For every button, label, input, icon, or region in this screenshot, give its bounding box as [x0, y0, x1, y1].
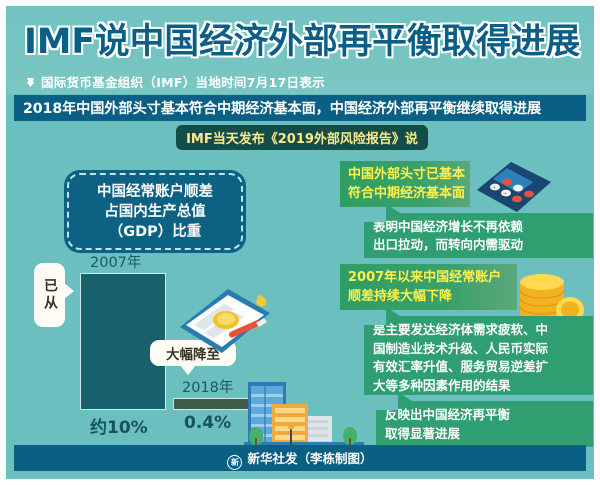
svg-text:÷: ÷ [503, 191, 507, 197]
infographic-poster: IMF说中国经济外部再平衡取得进展 国际货币基金组织（IMF）当地时间7月17日… [6, 6, 594, 479]
point-1-line-2: 符合中期经济基本面 [348, 184, 470, 203]
bar-value-2007: 约10% [90, 413, 148, 438]
bar-label-2007: 2007年 [90, 251, 141, 272]
down-arrow-icon [25, 77, 36, 88]
annotation-from-text: 已从 [41, 278, 58, 312]
annotation-from-bubble: 已从 [34, 263, 65, 327]
callout-line-1: 中国经常账户顺差 [97, 182, 213, 202]
headline-bar: 2018年中国外部头寸基本符合中期经济基本面，中国经济外部再平衡继续取得进展 [14, 95, 586, 121]
headline-text: 2018年中国外部头寸基本符合中期经济基本面，中国经济外部再平衡继续取得进展 [14, 98, 541, 118]
point-1-line-1: 中国外部头寸已基本 [348, 165, 470, 184]
bar-2018 [173, 398, 255, 410]
box-notch [364, 316, 386, 325]
footer-credit-bar: 新新华社发（李栋制图） [14, 445, 586, 471]
point-2-detail-box: 是主要发达经济体需求疲软、中 国制造业技术升级、人民币实际 有效汇率升值、服务贸… [364, 316, 593, 395]
source-text: 国际货币基金组织（IMF）当地时间7月17日表示 [41, 75, 325, 90]
point-1-band: 中国外部头寸已基本 符合中期经济基本面 [340, 161, 470, 207]
page-title: IMF说中国经济外部再平衡取得进展 [24, 20, 578, 64]
point-2-detail-line-1: 是主要发达经济体需求疲软、中 [373, 321, 593, 340]
point-2-line-1: 2007年以来中国经常账户 [348, 268, 517, 287]
footer-credit: 新新华社发（李栋制图） [227, 448, 372, 469]
metric-callout: 中国经常账户顺差 占国内生产总值 （GDP）比重 [64, 170, 246, 253]
xinhua-logo-icon: 新 [227, 455, 242, 470]
point-2-detail-line-3: 有效汇率升值、服务贸易逆差扩 [373, 358, 593, 377]
point-1-detail-line-1: 表明中国经济增长不再依赖 [373, 218, 593, 236]
point-3-detail-box: 反映出中国经济再平衡 取得显著进展 [376, 401, 593, 447]
footer-credit-text: 新华社发（李栋制图） [247, 451, 372, 466]
header-area: IMF说中国经济外部再平衡取得进展 国际货币基金组织（IMF）当地时间7月17日… [6, 6, 594, 94]
point-2-detail-line-2: 国制造业技术升级、人民币实际 [373, 340, 593, 359]
report-pill-text: IMF当天发布《2019外部风险报告》说 [186, 128, 418, 147]
box-notch [376, 401, 398, 410]
callout-line-2: 占国内生产总值 [104, 202, 206, 222]
point-1-detail-box: 表明中国经济增长不再依赖 出口拉动，而转向内需驱动 [364, 213, 593, 258]
callout-line-3: （GDP）比重 [109, 222, 202, 242]
clipboard-coin-icon [166, 281, 276, 365]
point-3-detail-line-2: 取得显著进展 [385, 425, 593, 444]
bar-value-2018: 0.4% [184, 413, 231, 433]
box-notch [364, 213, 386, 222]
report-pill: IMF当天发布《2019外部风险报告》说 [176, 125, 428, 150]
point-1-detail-line-2: 出口拉动，而转向内需驱动 [373, 236, 593, 254]
bar-label-2018: 2018年 [182, 376, 233, 397]
source-line: 国际货币基金组织（IMF）当地时间7月17日表示 [25, 72, 325, 91]
point-2-band: 2007年以来中国经常账户 顺差持续大幅下降 [340, 264, 517, 310]
point-2-line-2: 顺差持续大幅下降 [348, 287, 517, 306]
svg-text:+: + [492, 185, 496, 191]
point-3-detail-line-1: 反映出中国经济再平衡 [385, 406, 593, 425]
